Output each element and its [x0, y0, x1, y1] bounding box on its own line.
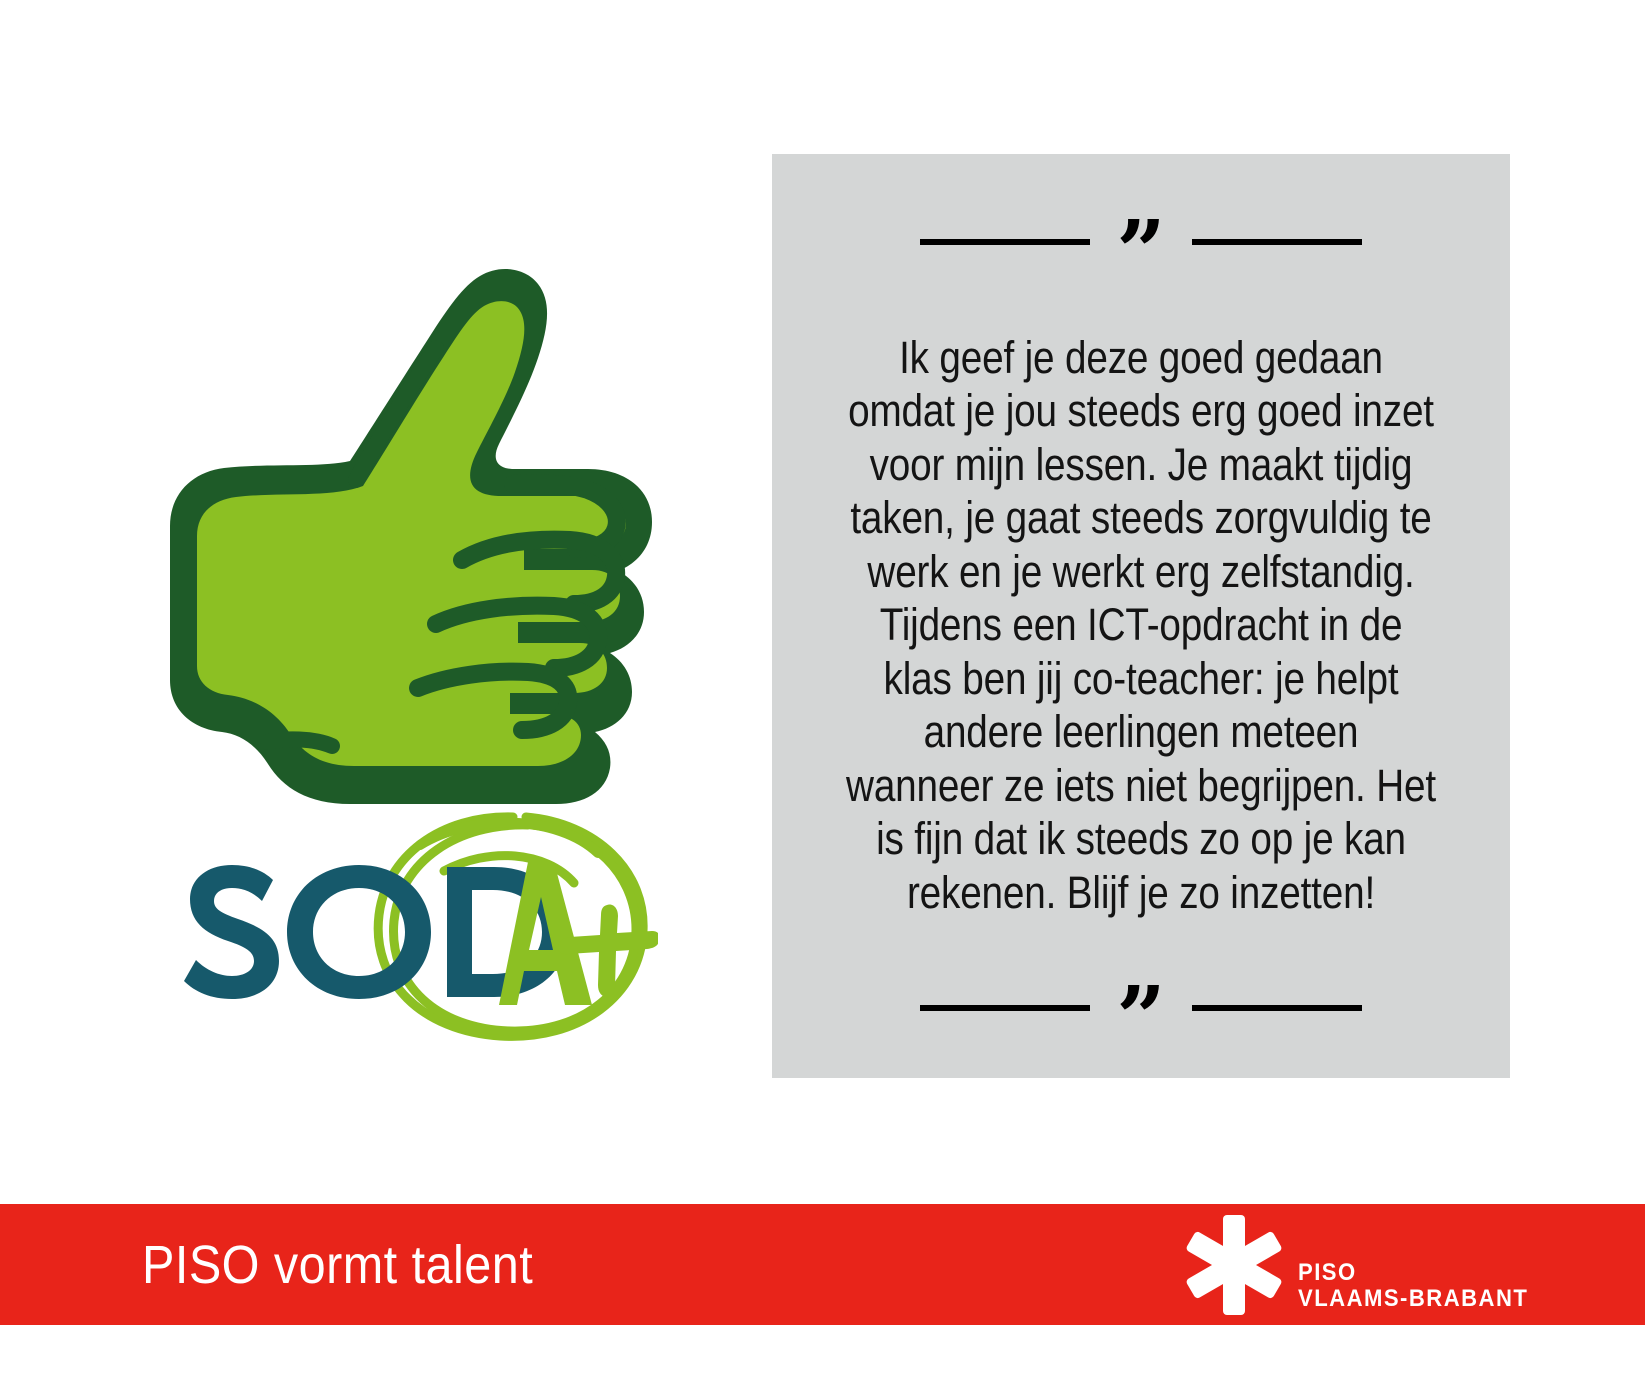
piso-wordmark: PISO VLAAMS-BRABANT [1298, 1260, 1528, 1320]
quote-text-block: Ik geef je deze goed gedaan omdat je jou… [798, 272, 1484, 978]
thumbs-up-icon [118, 218, 678, 818]
asterisk-icon [1178, 1209, 1290, 1321]
divider-rule-right [1192, 1005, 1362, 1011]
quote-paragraph: Ik geef je deze goed gedaan omdat je jou… [846, 331, 1436, 920]
piso-vlaams-brabant-logo: PISO VLAAMS-BRABANT [1178, 1210, 1548, 1320]
footer-band: PISO vormt talent PISO VLAAMS-BRABANT [0, 1204, 1645, 1325]
left-column [0, 0, 735, 1204]
divider-rule-right [1192, 239, 1362, 245]
soda-plus-logo [128, 775, 658, 1050]
poster-canvas: ” Ik geef je deze goed gedaan omdat je j… [0, 0, 1645, 1379]
footer-tagline: PISO vormt talent [142, 1234, 533, 1296]
piso-wordmark-line2: VLAAMS-BRABANT [1298, 1286, 1528, 1312]
divider-rule-left [920, 239, 1090, 245]
piso-wordmark-line1: PISO [1298, 1260, 1528, 1286]
quote-divider-bottom: ” [876, 978, 1406, 1038]
divider-rule-left [920, 1005, 1090, 1011]
quote-card: ” Ik geef je deze goed gedaan omdat je j… [772, 154, 1510, 1078]
quote-divider-top: ” [876, 212, 1406, 272]
